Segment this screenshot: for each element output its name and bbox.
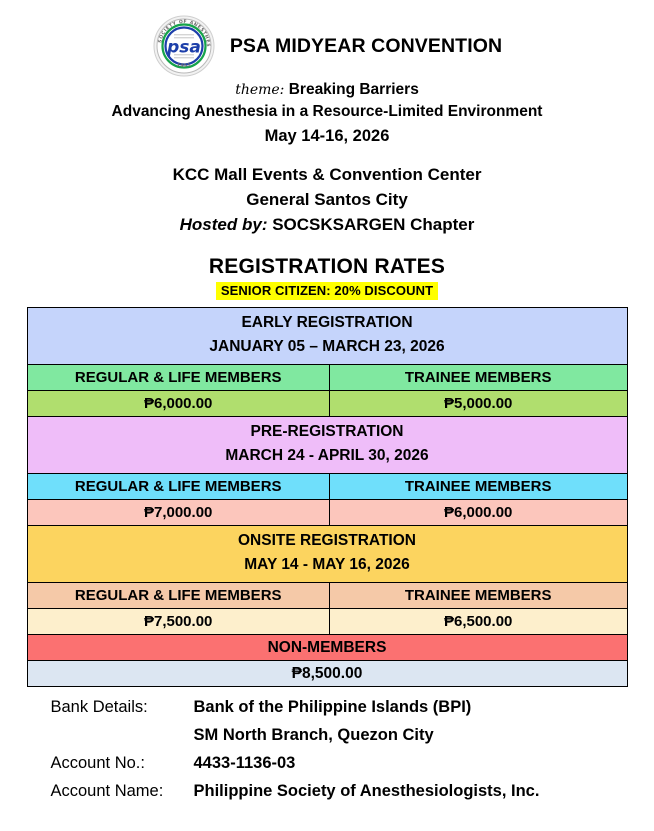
rates-price-cell: ₱7,000.00: [27, 500, 329, 526]
bank-details-block: Bank Details:Bank of the Philippine Isla…: [27, 693, 628, 805]
rates-band-row: ONSITE REGISTRATIONMAY 14 - MAY 16, 2026: [27, 526, 627, 583]
theme-label: theme:: [235, 82, 284, 98]
rates-band-title: EARLY REGISTRATION: [28, 311, 627, 335]
non-members-price-cell: ₱8,500.00: [27, 661, 627, 687]
registration-rates-heading: REGISTRATION RATES: [0, 255, 654, 279]
rates-table-body: EARLY REGISTRATIONJANUARY 05 – MARCH 23,…: [27, 308, 627, 687]
theme-value: Breaking Barriers: [289, 81, 419, 98]
event-subtitle: Advancing Anesthesia in a Resource-Limit…: [0, 101, 654, 123]
hosted-by-value: SOCSKSARGEN Chapter: [272, 215, 474, 234]
organization-title: PSA MIDYEAR CONVENTION: [230, 35, 502, 58]
rates-band-dates: MAY 14 - MAY 16, 2026: [28, 553, 627, 577]
bank-detail-row: Account Name:Philippine Society of Anest…: [51, 777, 628, 805]
rates-price-cell: ₱6,000.00: [27, 391, 329, 417]
bank-detail-row: Account No.:4433-1136-03: [51, 749, 628, 777]
psa-seal-svg: PHILIPPINE SOCIETY OF ANESTHESIOLOGISTS …: [152, 14, 216, 78]
bank-detail-value: SM North Branch, Quezon City: [194, 721, 434, 749]
rates-category-cell: TRAINEE MEMBERS: [329, 583, 627, 609]
event-dates: May 14-16, 2026: [0, 124, 654, 148]
hosted-by-label: Hosted by:: [180, 215, 268, 234]
rates-band-row: PRE-REGISTRATIONMARCH 24 - APRIL 30, 202…: [27, 417, 627, 474]
bank-detail-row: SM North Branch, Quezon City: [51, 721, 628, 749]
registration-rates-table: EARLY REGISTRATIONJANUARY 05 – MARCH 23,…: [27, 307, 628, 687]
rates-price-cell: ₱6,500.00: [329, 609, 627, 635]
rates-band-header: ONSITE REGISTRATIONMAY 14 - MAY 16, 2026: [27, 526, 627, 583]
rates-category-cell: REGULAR & LIFE MEMBERS: [27, 365, 329, 391]
rates-band-dates: MARCH 24 - APRIL 30, 2026: [28, 444, 627, 468]
bank-detail-value: 4433-1136-03: [194, 749, 296, 777]
rates-value-row: ₱7,000.00₱6,000.00: [27, 500, 627, 526]
bank-detail-label: Account Name:: [51, 777, 194, 805]
bank-detail-label: Account No.:: [51, 749, 194, 777]
rates-band-title: PRE-REGISTRATION: [28, 420, 627, 444]
bank-detail-label: Bank Details:: [51, 693, 194, 721]
non-members-price-row: ₱8,500.00: [27, 661, 627, 687]
rates-category-cell: TRAINEE MEMBERS: [329, 474, 627, 500]
rates-price-cell: ₱7,500.00: [27, 609, 329, 635]
theme-line: theme: Breaking Barriers: [0, 80, 654, 100]
rates-price-cell: ₱6,000.00: [329, 500, 627, 526]
rates-price-cell: ₱5,000.00: [329, 391, 627, 417]
rates-band-header: PRE-REGISTRATIONMARCH 24 - APRIL 30, 202…: [27, 417, 627, 474]
rates-category-cell: TRAINEE MEMBERS: [329, 365, 627, 391]
rates-band-header: EARLY REGISTRATIONJANUARY 05 – MARCH 23,…: [27, 308, 627, 365]
rates-value-row: ₱6,000.00₱5,000.00: [27, 391, 627, 417]
rates-band-row: EARLY REGISTRATIONJANUARY 05 – MARCH 23,…: [27, 308, 627, 365]
bank-detail-row: Bank Details:Bank of the Philippine Isla…: [51, 693, 628, 721]
venue-block: KCC Mall Events & Convention Center Gene…: [0, 162, 654, 237]
rates-category-cell: REGULAR & LIFE MEMBERS: [27, 583, 329, 609]
title-row: PHILIPPINE SOCIETY OF ANESTHESIOLOGISTS …: [0, 14, 654, 78]
psa-seal-logo-icon: PHILIPPINE SOCIETY OF ANESTHESIOLOGISTS …: [152, 14, 216, 78]
svg-text:psa: psa: [166, 38, 201, 58]
hosted-by-line: Hosted by: SOCSKSARGEN Chapter: [0, 212, 654, 237]
senior-discount-wrap: SENIOR CITIZEN: 20% DISCOUNT: [0, 282, 654, 300]
rates-band-title: ONSITE REGISTRATION: [28, 529, 627, 553]
non-members-label-cell: NON-MEMBERS: [27, 635, 627, 661]
rates-category-row: REGULAR & LIFE MEMBERSTRAINEE MEMBERS: [27, 474, 627, 500]
rates-category-cell: REGULAR & LIFE MEMBERS: [27, 474, 329, 500]
rates-category-row: REGULAR & LIFE MEMBERSTRAINEE MEMBERS: [27, 365, 627, 391]
event-header: PHILIPPINE SOCIETY OF ANESTHESIOLOGISTS …: [0, 0, 654, 237]
bank-detail-value: Bank of the Philippine Islands (BPI): [194, 693, 472, 721]
senior-citizen-discount-badge: SENIOR CITIZEN: 20% DISCOUNT: [216, 282, 438, 300]
venue-line-1: KCC Mall Events & Convention Center: [0, 162, 654, 187]
rates-value-row: ₱7,500.00₱6,500.00: [27, 609, 627, 635]
bank-detail-value: Philippine Society of Anesthesiologists,…: [194, 777, 540, 805]
venue-line-2: General Santos City: [0, 187, 654, 212]
non-members-label-row: NON-MEMBERS: [27, 635, 627, 661]
rates-category-row: REGULAR & LIFE MEMBERSTRAINEE MEMBERS: [27, 583, 627, 609]
rates-band-dates: JANUARY 05 – MARCH 23, 2026: [28, 335, 627, 359]
